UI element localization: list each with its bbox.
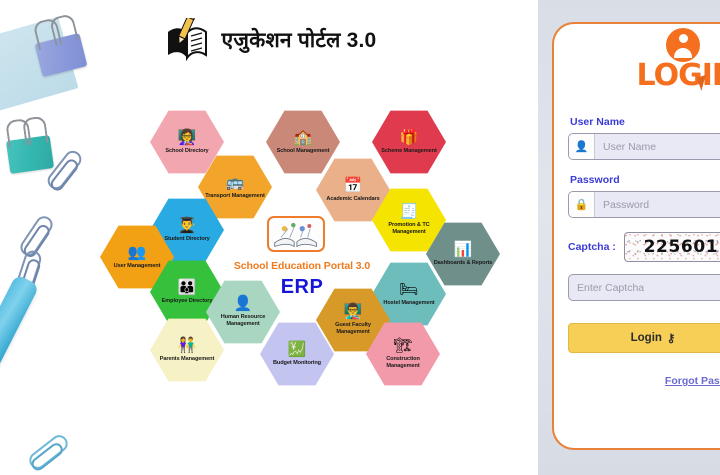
captcha-input[interactable]: Enter Captcha <box>568 274 720 301</box>
module-label: Student Directory <box>157 236 216 243</box>
book-pencil-icon <box>164 18 210 62</box>
captcha-label: Captcha : <box>568 241 616 253</box>
login-page: एजुकेशन पोर्टल 3.0 👩‍🏫School Directory🚌T… <box>0 0 720 475</box>
login-button[interactable]: Login ⚷ <box>568 323 720 353</box>
module-label: Construction Management <box>366 356 440 370</box>
module-icon: 📅 <box>344 178 363 193</box>
hex-module-school-management[interactable]: 🏫School Management <box>266 110 340 174</box>
captcha-image[interactable]: 225601 <box>624 232 720 262</box>
username-placeholder: User Name <box>595 141 720 153</box>
username-label: User Name <box>570 116 720 128</box>
module-icon: 👥 <box>128 245 147 260</box>
module-label: Hostel Management <box>376 300 441 307</box>
module-label: School Directory <box>158 148 215 155</box>
module-icon: 🧾 <box>400 204 419 219</box>
hex-module-parents-management[interactable]: 👫Parents Management <box>150 318 224 382</box>
login-brand: LOGIN <box>568 24 720 116</box>
password-input[interactable]: 🔒 Password <box>568 191 720 218</box>
module-label: Human Resource Management <box>206 314 280 328</box>
module-label: Promotion & TC Management <box>372 222 446 236</box>
module-label: User Management <box>107 263 168 270</box>
module-icon: 🚌 <box>226 175 245 190</box>
username-input[interactable]: 👤 User Name <box>568 133 720 160</box>
module-icon: 👨‍🎓 <box>178 218 197 233</box>
binder-clip-teal-icon <box>6 135 54 174</box>
module-label: Academic Calendars <box>319 196 386 203</box>
login-card: LOGIN User Name 👤 User Name Password 🔒 P… <box>552 22 720 450</box>
center-book-card <box>267 216 325 252</box>
module-label: Parents Management <box>153 356 221 363</box>
user-avatar-icon <box>666 28 700 62</box>
module-icon: 🏗 <box>393 338 412 353</box>
login-button-label: Login <box>631 332 662 344</box>
module-label: School Management <box>270 148 337 155</box>
pen-decoration <box>0 274 40 475</box>
module-label: Dashboards & Reports <box>427 260 500 267</box>
module-icon: 👨‍🏫 <box>344 304 363 319</box>
password-label: Password <box>570 174 720 186</box>
paperclip-icon <box>14 248 44 295</box>
module-icon: 👫 <box>178 338 197 353</box>
page-header: एजुकेशन पोर्टल 3.0 <box>0 18 540 62</box>
erp-label: ERP <box>212 276 392 299</box>
paperclip-icon <box>26 432 71 472</box>
hex-module-scheme-management[interactable]: 🎁Scheme Management <box>372 110 446 174</box>
module-icon: 💹 <box>288 342 307 357</box>
module-icon: 🎁 <box>400 130 419 145</box>
forgot-password-link[interactable]: Forgot Password ? <box>568 375 720 387</box>
module-label: Transport Management <box>198 193 272 200</box>
captcha-placeholder: Enter Captcha <box>577 282 644 294</box>
module-icon: 👪 <box>178 280 197 295</box>
module-label: Budget Monitoring <box>266 360 328 367</box>
portal-title: School Education Portal 3.0 <box>212 260 392 272</box>
module-label: Scheme Management <box>374 148 444 155</box>
module-label: Employee Directory <box>155 298 220 305</box>
module-icon: 👩‍🏫 <box>178 130 197 145</box>
modules-hex-diagram: 👩‍🏫School Directory🚌Transport Management… <box>88 110 538 400</box>
module-icon: 📊 <box>454 242 473 257</box>
module-icon: 🛏 <box>399 282 418 297</box>
captcha-row: Captcha : 225601 <box>568 232 720 262</box>
paperclip-icon <box>44 147 84 192</box>
password-placeholder: Password <box>595 199 720 211</box>
lock-icon: 🔒 <box>569 192 595 217</box>
person-icon: 👤 <box>569 134 595 159</box>
key-icon: ⚷ <box>667 331 675 345</box>
page-title: एजुकेशन पोर्टल 3.0 <box>222 26 377 54</box>
paperclip-icon <box>17 213 56 259</box>
module-icon: 🏫 <box>294 130 313 145</box>
